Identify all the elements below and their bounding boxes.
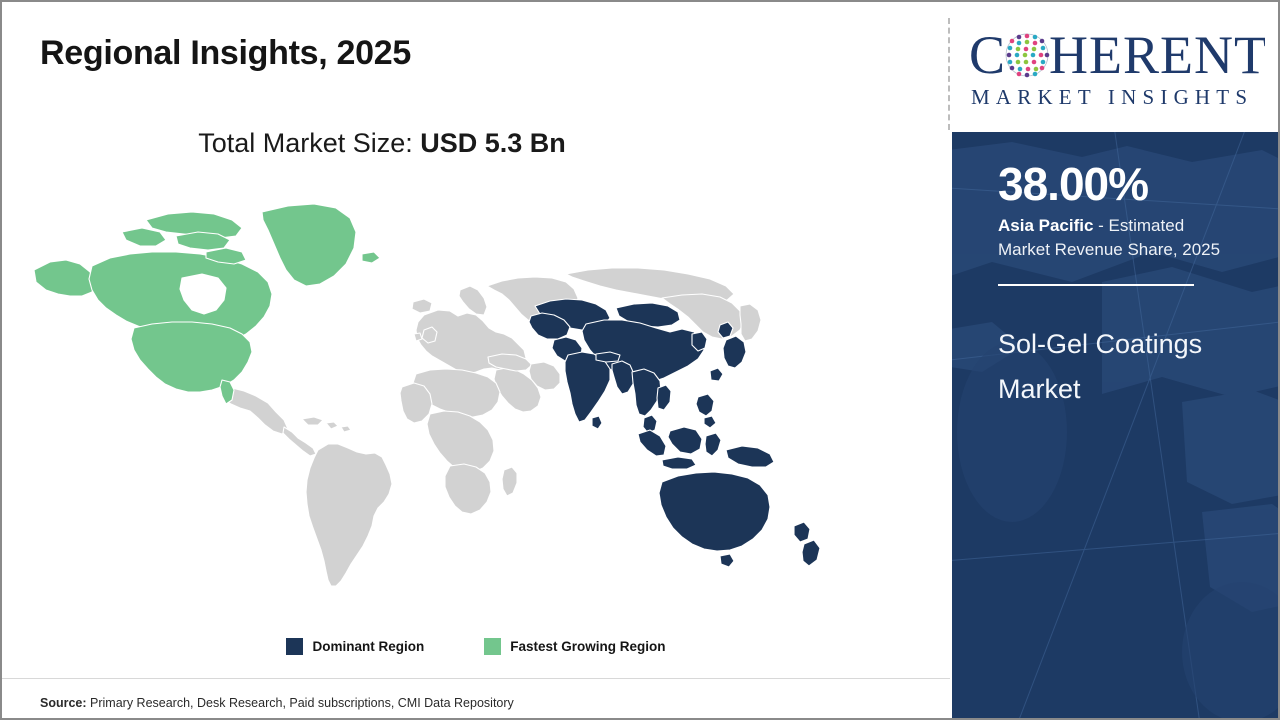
legend-label-dominant: Dominant Region [312, 639, 424, 654]
map-region-asia-pacific [529, 299, 820, 567]
legend-label-fastest-growing: Fastest Growing Region [510, 639, 665, 654]
total-market-size: Total Market Size: USD 5.3 Bn [2, 128, 762, 159]
svg-text:HERENT: HERENT [1049, 25, 1265, 85]
stat-region-name: Asia Pacific [998, 216, 1093, 235]
source-note: Source: Primary Research, Desk Research,… [40, 696, 514, 710]
stat-description: Asia Pacific - Estimated Market Revenue … [998, 214, 1232, 262]
map-region-north-america [34, 204, 380, 404]
brand-logo: C HERENT MARKET INSIGHTS [952, 2, 1278, 132]
world-map-container [26, 182, 846, 622]
left-content-panel: Regional Insights, 2025 Total Market Siz… [2, 2, 950, 718]
stat-rule [998, 284, 1194, 286]
regional-insights-slide: Regional Insights, 2025 Total Market Siz… [0, 0, 1280, 720]
square-swatch-icon [286, 638, 303, 655]
stat-percent-value: 38.00% [998, 160, 1248, 208]
legend-item-dominant: Dominant Region [286, 638, 424, 655]
source-label: Source: [40, 696, 87, 710]
source-divider [2, 678, 950, 679]
stat-panel-content: 38.00% Asia Pacific - Estimated Market R… [952, 132, 1278, 718]
coherent-market-insights-logo-icon: C HERENT MARKET INSIGHTS [965, 21, 1265, 113]
panel-divider [948, 18, 950, 130]
stat-panel: 38.00% Asia Pacific - Estimated Market R… [952, 132, 1278, 718]
svg-text:MARKET INSIGHTS: MARKET INSIGHTS [971, 85, 1253, 109]
world-map-svg [26, 182, 846, 622]
market-name: Sol-Gel Coatings Market [998, 322, 1218, 413]
map-legend: Dominant Region Fastest Growing Region [2, 638, 950, 655]
square-swatch-icon [484, 638, 501, 655]
source-text: Primary Research, Desk Research, Paid su… [87, 696, 514, 710]
svg-text:C: C [969, 25, 1006, 85]
total-market-size-value: USD 5.3 Bn [420, 128, 566, 158]
globe-dot-icon [1006, 34, 1049, 78]
page-title: Regional Insights, 2025 [40, 34, 411, 73]
legend-item-fastest-growing: Fastest Growing Region [484, 638, 665, 655]
total-market-size-label: Total Market Size: [198, 128, 420, 158]
